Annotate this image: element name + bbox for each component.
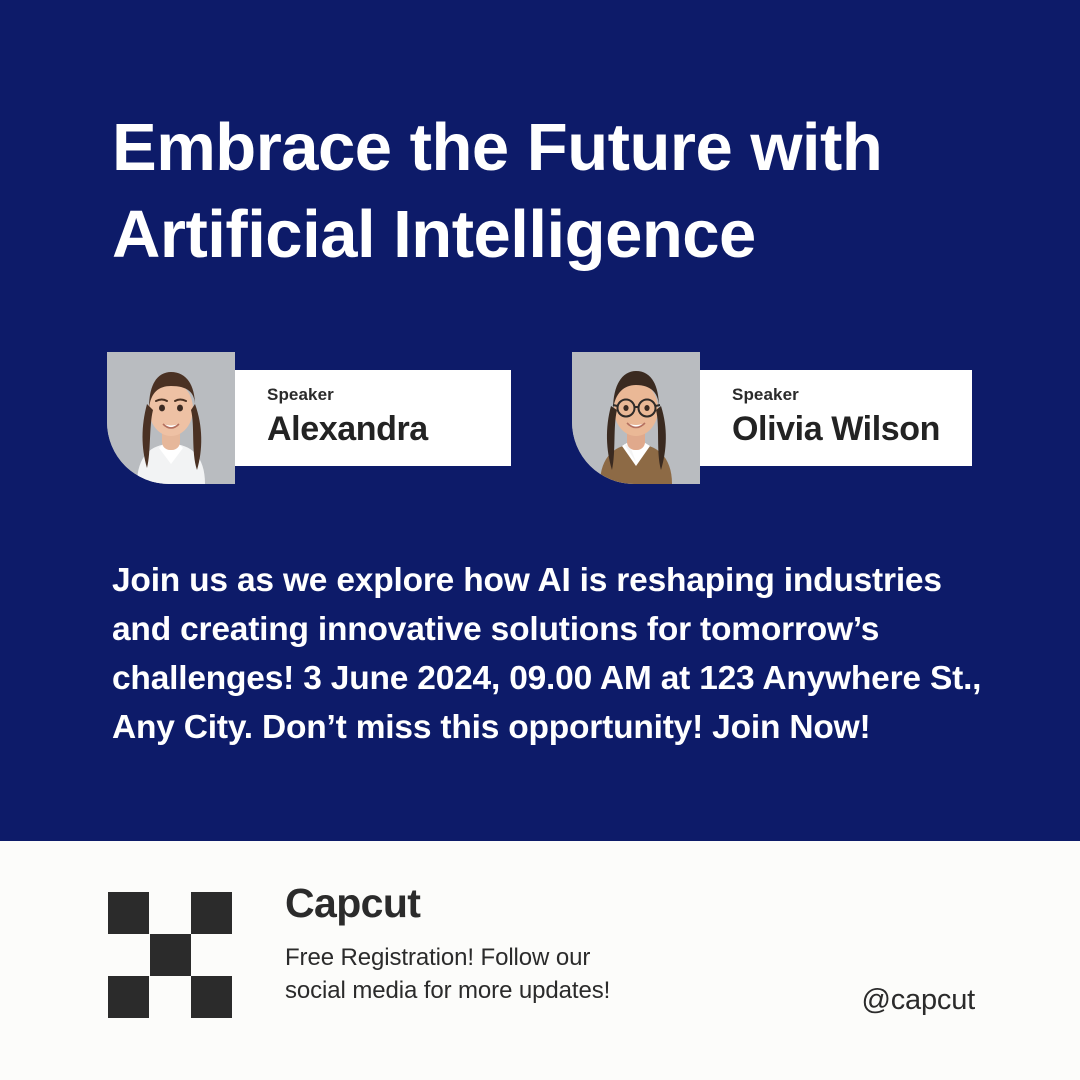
footer-bar: Capcut Free Registration! Follow our soc… [0, 841, 1080, 1080]
speaker-role-label: Speaker [732, 386, 940, 403]
registration-tagline: Free Registration! Follow our social med… [285, 941, 610, 1007]
speaker-info-panel: Speaker Alexandra [235, 370, 511, 466]
page-title: Embrace the Future with Artificial Intel… [112, 104, 1012, 278]
avatar [572, 352, 700, 484]
checkerboard-logo-icon [108, 892, 232, 1018]
speaker-list: Speaker Alexandra [0, 352, 1080, 492]
speaker-name: Alexandra [267, 411, 428, 448]
portrait-alexandra-illustration [107, 352, 235, 484]
social-handle[interactable]: @capcut [862, 984, 975, 1017]
event-description: Join us as we explore how AI is reshapin… [112, 556, 992, 752]
avatar [107, 352, 235, 484]
speaker-name: Olivia Wilson [732, 411, 940, 448]
speaker-role-label: Speaker [267, 386, 428, 403]
brand-block: Capcut Free Registration! Follow our soc… [285, 883, 610, 1007]
poster-body: Embrace the Future with Artificial Intel… [0, 0, 1080, 841]
portrait-olivia-wilson-illustration [572, 352, 700, 484]
speaker-info-panel: Speaker Olivia Wilson [700, 370, 972, 466]
brand-name: Capcut [285, 883, 610, 924]
